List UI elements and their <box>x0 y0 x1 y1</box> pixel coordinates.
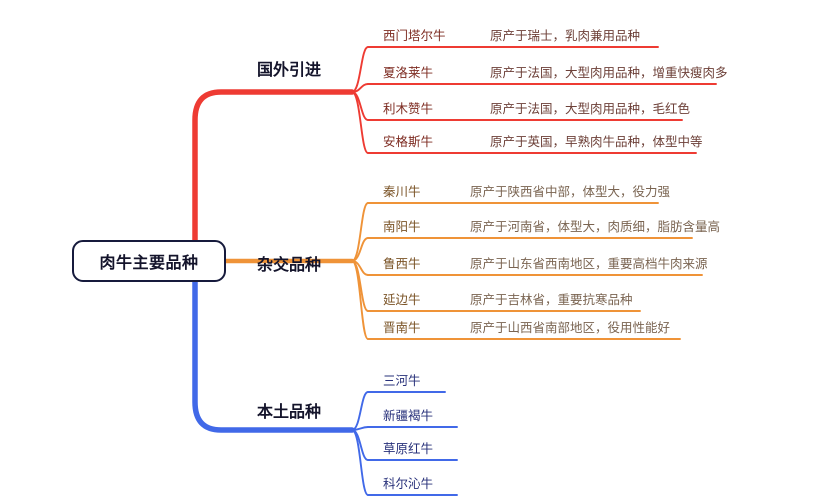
branch-label-foreign[interactable]: 国外引进 <box>257 56 321 80</box>
leaf-description: 原产于山西省南部地区，役用性能好 <box>470 317 670 336</box>
leaf-description: 原产于河南省，体型大，肉质细，脂肪含量高 <box>470 216 720 235</box>
root-node[interactable]: 肉牛主要品种 <box>72 240 226 282</box>
leaf-name[interactable]: 夏洛莱牛 <box>383 62 433 81</box>
root-node-label: 肉牛主要品种 <box>99 249 198 273</box>
leaf-description: 原产于法国，大型肉用品种，增重快瘦肉多 <box>490 62 728 81</box>
leaf-name[interactable]: 科尔沁牛 <box>383 473 433 492</box>
leaf-name[interactable]: 草原红牛 <box>383 438 433 457</box>
leaf-name[interactable]: 晋南牛 <box>383 317 421 336</box>
leaf-name[interactable]: 新疆褐牛 <box>383 405 433 424</box>
leaf-description: 原产于陕西省中部，体型大，役力强 <box>470 181 670 200</box>
leaf-name[interactable]: 利木赞牛 <box>383 98 433 117</box>
leaf-description: 原产于山东省西南地区，重要高档牛肉来源 <box>470 253 708 272</box>
branch-label-crossbred[interactable]: 杂交品种 <box>257 251 321 275</box>
leaf-description: 原产于英国，早熟肉牛品种，体型中等 <box>490 131 703 150</box>
leaf-description: 原产于吉林省，重要抗寒品种 <box>470 289 633 308</box>
leaf-name[interactable]: 延边牛 <box>383 289 421 308</box>
leaf-name[interactable]: 三河牛 <box>383 370 421 389</box>
mindmap-canvas: 肉牛主要品种 国外引进 杂交品种 本土品种 西门塔尔牛原产于瑞士，乳肉兼用品种夏… <box>0 0 822 498</box>
leaf-description: 原产于法国，大型肉用品种，毛红色 <box>490 98 690 117</box>
leaf-description: 原产于瑞士，乳肉兼用品种 <box>490 25 640 44</box>
leaf-name[interactable]: 西门塔尔牛 <box>383 25 446 44</box>
branch-label-native[interactable]: 本土品种 <box>257 398 321 422</box>
leaf-name[interactable]: 鲁西牛 <box>383 253 421 272</box>
leaf-name[interactable]: 安格斯牛 <box>383 131 433 150</box>
leaf-name[interactable]: 秦川牛 <box>383 181 421 200</box>
leaf-name[interactable]: 南阳牛 <box>383 216 421 235</box>
